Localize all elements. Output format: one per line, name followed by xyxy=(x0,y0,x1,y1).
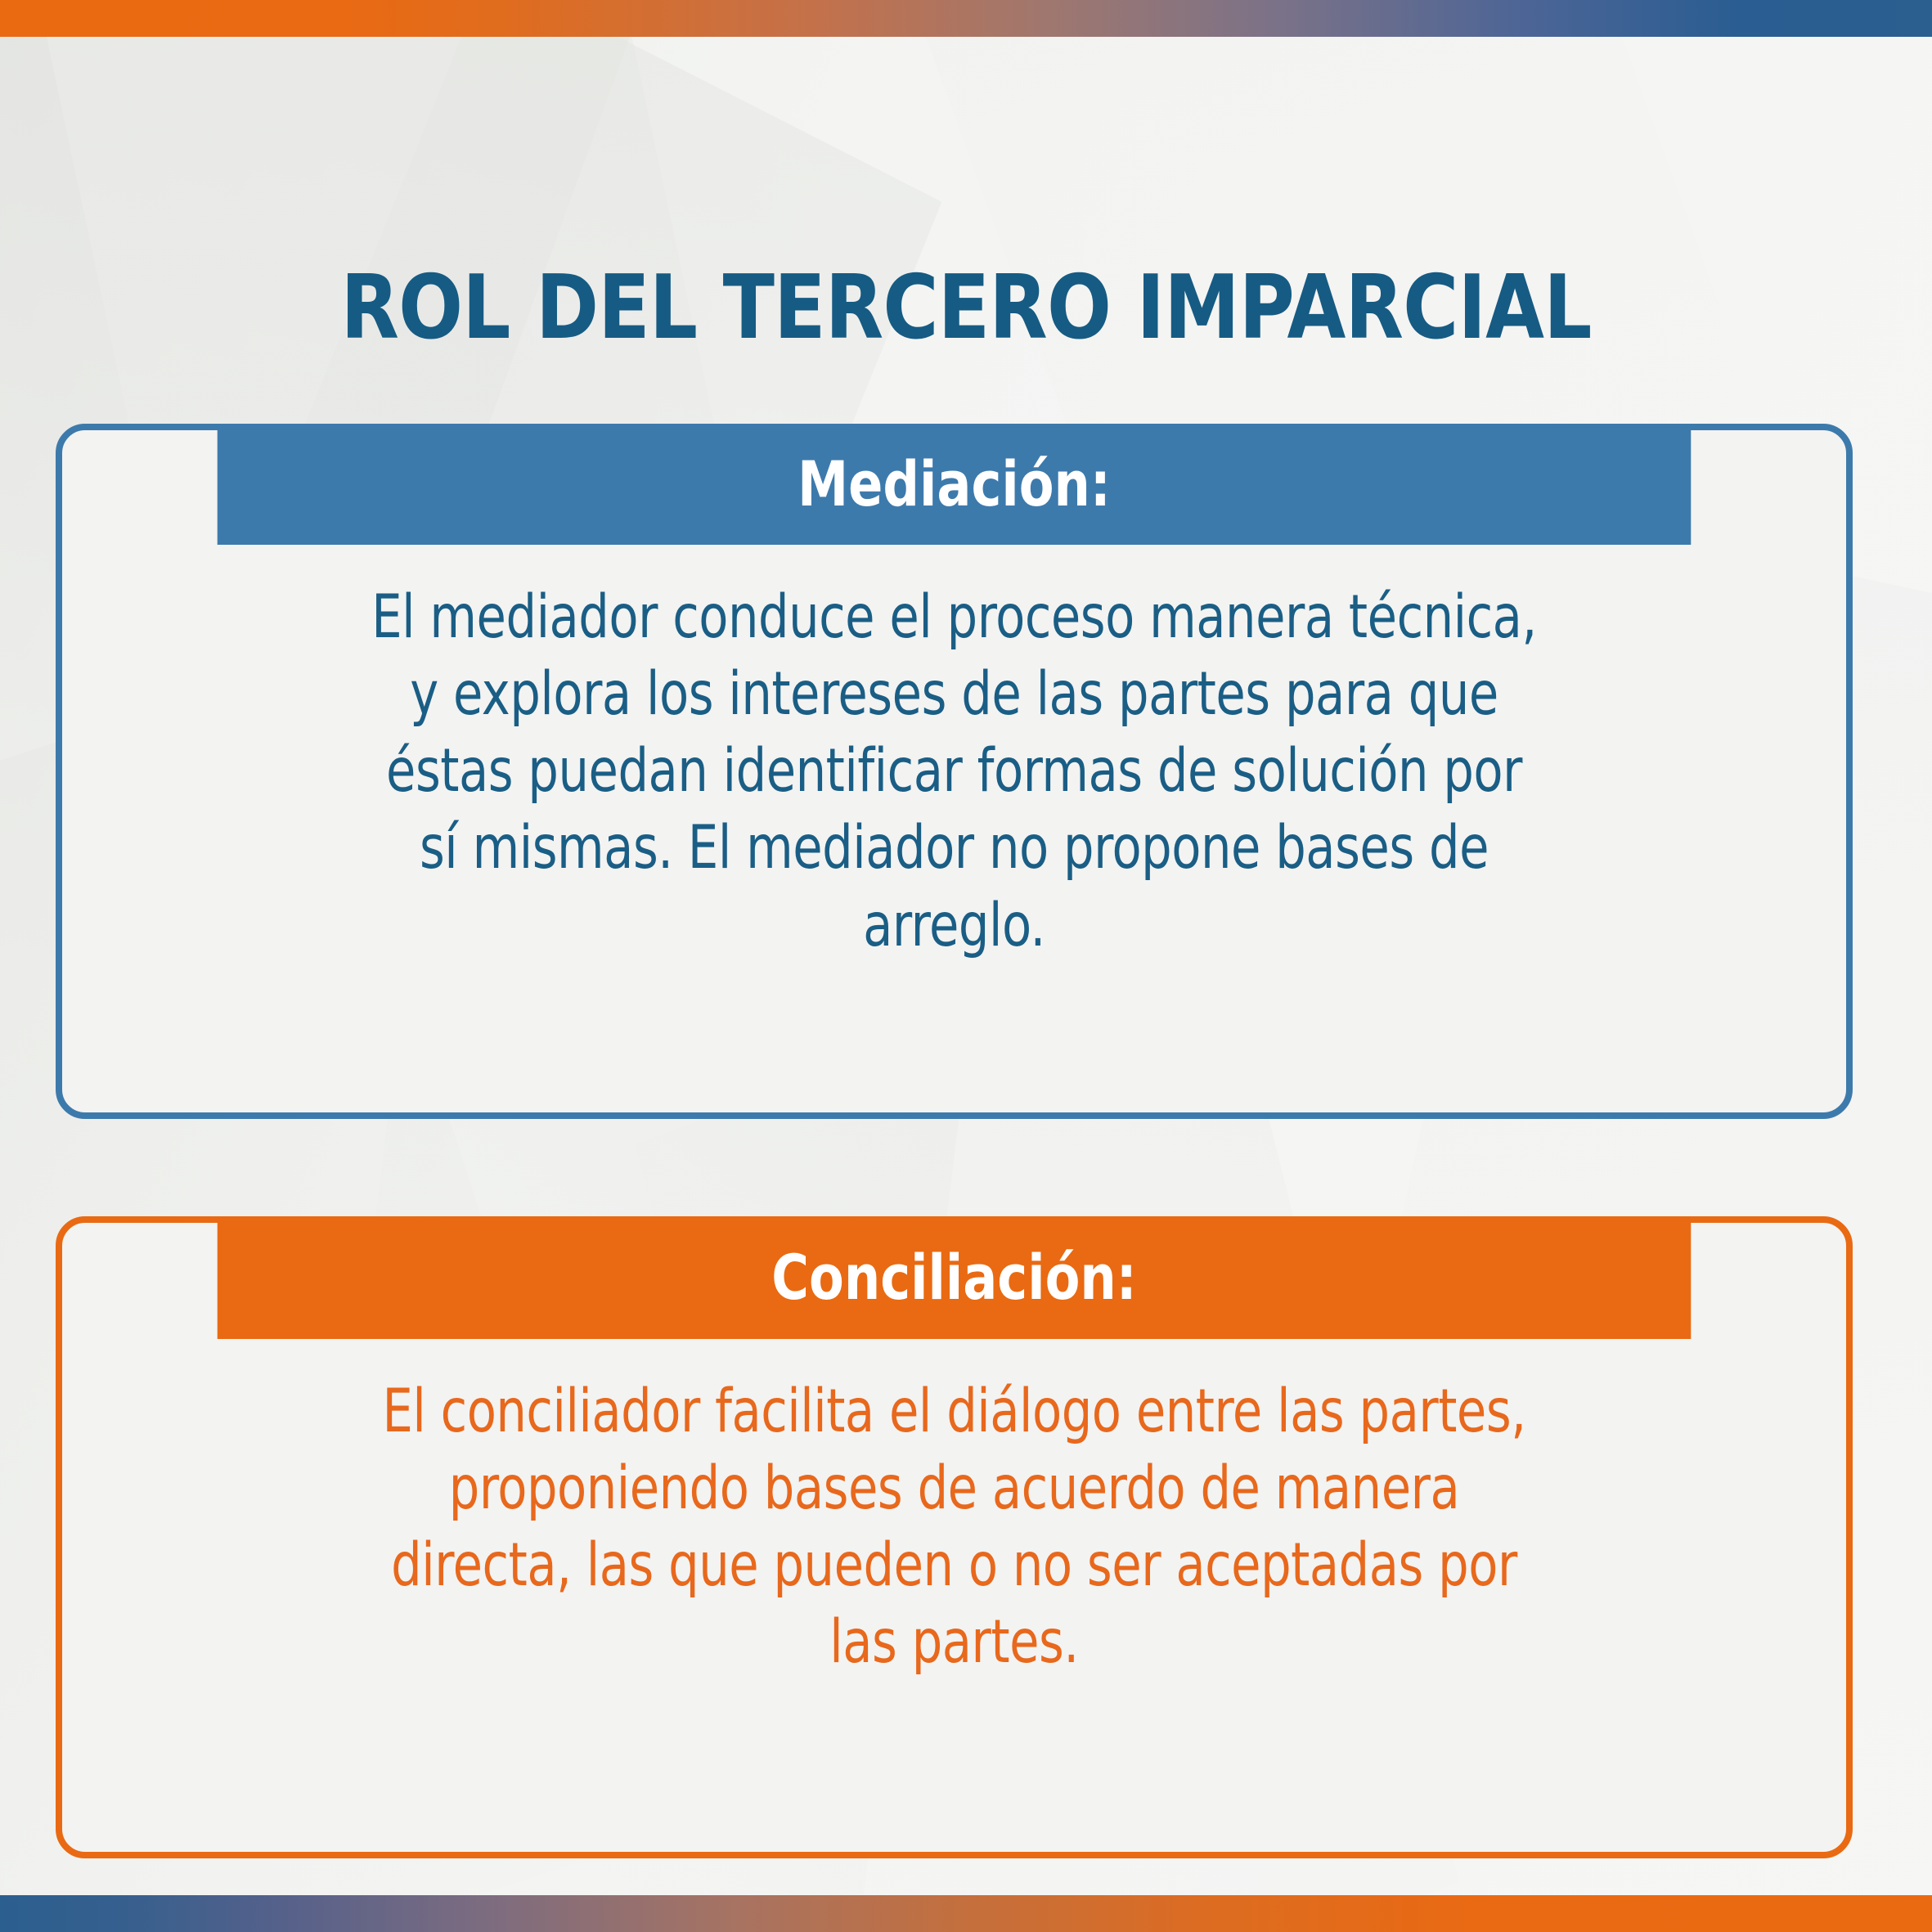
card-conciliacion-header: Conciliación: xyxy=(218,1216,1692,1339)
card-mediacion: Mediación: El mediador conduce el proces… xyxy=(56,424,1853,1119)
card-conciliacion-line-3: directa, las que pueden o no ser aceptad… xyxy=(194,1527,1714,1604)
bottom-gradient-bar xyxy=(0,1895,1932,1932)
card-mediacion-line-3: éstas puedan identificar formas de soluc… xyxy=(194,733,1714,810)
card-conciliacion-line-4: las partes. xyxy=(194,1604,1714,1681)
card-mediacion-line-1: El mediador conduce el proceso manera té… xyxy=(194,579,1714,656)
card-mediacion-line-2: y explora los intereses de las partes pa… xyxy=(194,656,1714,733)
card-mediacion-line-4: sí mismas. El mediador no propone bases … xyxy=(194,810,1714,887)
card-mediacion-header: Mediación: xyxy=(218,424,1692,545)
slide-canvas: ROL DEL TERCERO IMPARCIAL Mediación: El … xyxy=(0,0,1932,1932)
card-mediacion-line-5: arreglo. xyxy=(194,887,1714,964)
card-conciliacion-line-1: El conciliador facilita el diálogo entre… xyxy=(194,1373,1714,1450)
card-conciliacion-body: El conciliador facilita el diálogo entre… xyxy=(62,1339,1846,1706)
card-conciliacion: Conciliación: El conciliador facilita el… xyxy=(56,1216,1853,1858)
card-conciliacion-line-2: proponiendo bases de acuerdo de manera xyxy=(194,1450,1714,1527)
top-gradient-bar xyxy=(0,0,1932,37)
card-mediacion-body: El mediador conduce el proceso manera té… xyxy=(62,545,1846,989)
page-title: ROL DEL TERCERO IMPARCIAL xyxy=(135,262,1796,354)
